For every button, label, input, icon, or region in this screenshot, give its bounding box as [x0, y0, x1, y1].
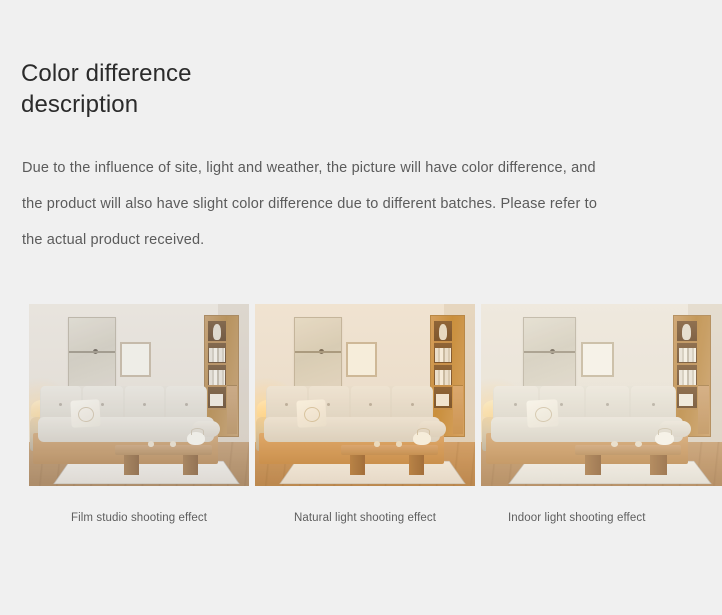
cabinet-panel	[227, 385, 237, 434]
throw-pillow	[70, 400, 100, 429]
shelf-row	[677, 365, 697, 387]
bookshelf-shelves	[208, 321, 226, 410]
cabinet-panel	[453, 385, 463, 434]
books	[209, 370, 225, 384]
sample-photo-natural-light[interactable]	[255, 304, 475, 486]
sample-photo-indoor-light[interactable]	[481, 304, 722, 486]
small-framed-art	[581, 342, 614, 377]
area-rug	[279, 461, 466, 484]
sample-photo-film-studio[interactable]	[29, 304, 249, 486]
caption-indoor-light: Indoor light shooting effect	[481, 505, 722, 531]
caption-natural-light: Natural light shooting effect	[255, 505, 475, 531]
living-room-scene	[255, 304, 475, 486]
bookshelf-shelves	[434, 321, 452, 410]
books	[435, 348, 451, 362]
living-room-scene	[29, 304, 249, 486]
books	[679, 370, 696, 384]
teapot	[413, 432, 431, 445]
books	[209, 348, 225, 362]
sample-image-gallery	[29, 304, 722, 486]
large-wall-art	[68, 317, 116, 388]
art-detail-dot	[319, 349, 324, 354]
shelf-row	[434, 321, 452, 343]
cabinet-panel	[698, 385, 709, 434]
bookshelf-shelves	[677, 321, 697, 410]
description-paragraph: Due to the influence of site, light and …	[22, 150, 602, 258]
small-framed-art	[120, 342, 150, 377]
shelf-row	[208, 321, 226, 343]
vase	[439, 324, 447, 340]
sample-image-captions: Film studio shooting effect Natural ligh…	[29, 505, 722, 531]
color-difference-section: Color difference description Due to the …	[0, 0, 722, 615]
storage-box	[679, 394, 693, 406]
large-wall-art	[523, 317, 576, 388]
coffee-table-top	[575, 445, 681, 455]
shelf-row	[208, 365, 226, 387]
storage-box	[210, 394, 223, 406]
shelf-row	[434, 387, 452, 409]
books	[679, 348, 696, 362]
shelf-row	[208, 387, 226, 409]
coffee-table-top	[341, 445, 438, 455]
shelf-row	[434, 365, 452, 387]
caption-film-studio: Film studio shooting effect	[29, 505, 249, 531]
page-title: Color difference description	[21, 58, 441, 120]
shelf-row	[677, 321, 697, 343]
small-framed-art	[346, 342, 376, 377]
storage-box	[436, 394, 449, 406]
living-room-scene	[481, 304, 722, 486]
books	[435, 370, 451, 384]
vase	[213, 324, 221, 340]
art-detail-dot	[550, 349, 555, 354]
coffee-table-top	[115, 445, 212, 455]
area-rug	[53, 461, 240, 484]
teapot	[187, 432, 205, 445]
art-detail-dot	[93, 349, 98, 354]
shelf-row	[677, 343, 697, 365]
large-wall-art	[294, 317, 342, 388]
throw-pillow	[296, 400, 326, 429]
throw-pillow	[526, 400, 559, 429]
shelf-row	[434, 343, 452, 365]
teapot	[655, 432, 674, 445]
shelf-row	[208, 343, 226, 365]
shelf-row	[677, 387, 697, 409]
vase	[682, 324, 691, 340]
